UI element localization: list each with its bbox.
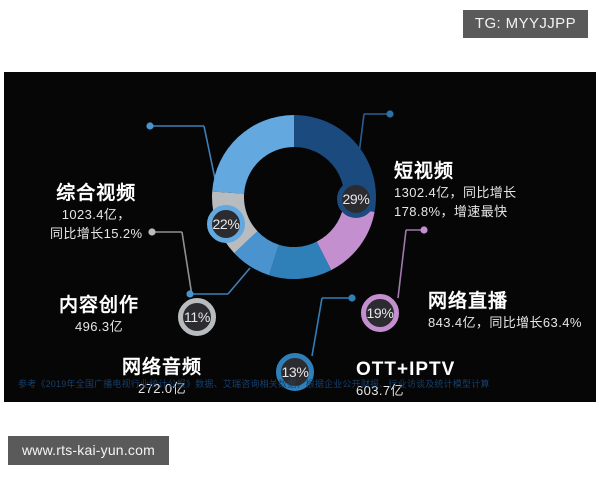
callout-duanshipin: 短视频 1302.4亿，同比增长 178.8%，增速最快	[394, 160, 517, 221]
tg-handle-badge: TG: MYYJJPP	[463, 10, 588, 38]
callout-line2: 同比增长15.2%	[50, 225, 142, 244]
callout-zonghe-shipin: 综合视频 1023.4亿， 同比增长15.2%	[50, 182, 142, 243]
source-footnote: 参考《2019年全国广播电视行业统计公报》数据、艾瑞咨询相关数据，根据企业公开财…	[18, 377, 490, 390]
callout-title: 网络直播	[428, 290, 582, 314]
infographic-panel: 29% 22% 19% 13% 11% 综合视频 1023.4亿， 同比增长15…	[4, 72, 596, 402]
callout-line1: 496.3亿	[59, 318, 139, 337]
percent-bubble-label: 22%	[212, 216, 239, 232]
callout-line1: 1302.4亿，同比增长	[394, 184, 517, 203]
percent-bubble-duanshipin: 29%	[337, 180, 375, 218]
percent-bubble-zonghe: 22%	[207, 205, 245, 243]
top-white-strip: TG: MYYJJPP	[0, 0, 600, 72]
callout-line1: 843.4亿，同比增长63.4%	[428, 314, 582, 333]
callout-title: 内容创作	[59, 294, 139, 318]
callout-wangluo-zhibo: 网络直播 843.4亿，同比增长63.4%	[428, 290, 582, 333]
percent-bubble-label: 29%	[342, 191, 369, 207]
site-watermark: www.rts-kai-yun.com	[8, 436, 169, 465]
donut-slice-zonghe	[212, 115, 294, 194]
callout-line1: 1023.4亿，	[50, 206, 142, 225]
percent-bubble-zhibo: 19%	[361, 294, 399, 332]
percent-bubble-label: 19%	[366, 305, 393, 321]
callout-neirong-chuangzuo: 内容创作 496.3亿	[59, 294, 139, 337]
percent-bubble-neirong: 11%	[178, 298, 216, 336]
percent-bubble-label: 11%	[184, 309, 210, 325]
callout-line2: 178.8%，增速最快	[394, 203, 517, 222]
callout-title: 综合视频	[50, 182, 142, 206]
callout-title: 短视频	[394, 160, 517, 184]
